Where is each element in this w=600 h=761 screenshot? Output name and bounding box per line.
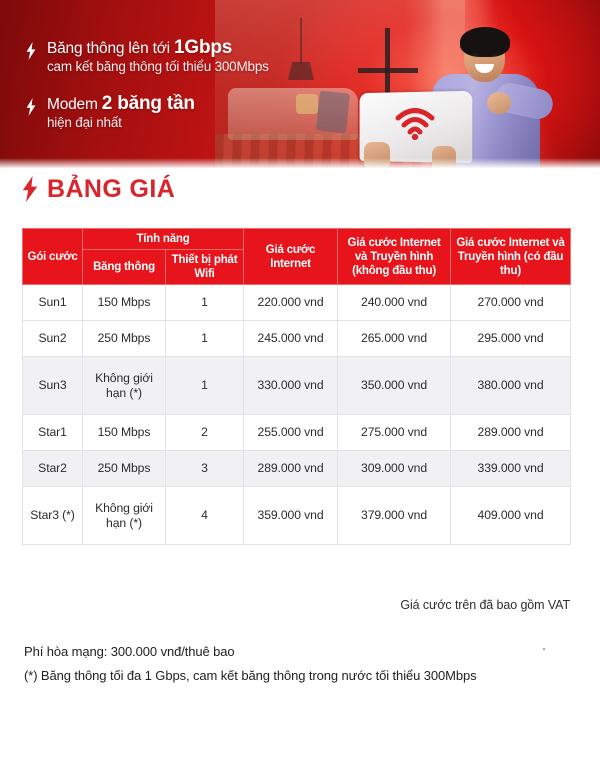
cell-package: Sun1 (23, 285, 83, 321)
cell-internet-price: 220.000 vnd (244, 285, 338, 321)
bullet-1-prefix: Băng thông lên tới (47, 40, 174, 57)
lightning-bolt-icon (26, 42, 36, 60)
cell-wifi-device: 4 (166, 487, 244, 545)
lightning-bolt-icon (26, 98, 36, 116)
cell-package: Star1 (23, 415, 83, 451)
cell-wifi-device: 1 (166, 357, 244, 415)
banner-bullet-item: Băng thông lên tới 1Gbps cam kết băng th… (26, 38, 269, 76)
person-eye (492, 53, 498, 56)
cell-internet-price: 255.000 vnd (244, 415, 338, 451)
cell-internet-tv-with-box: 380.000 vnd (451, 357, 571, 415)
cell-internet-tv-no-box: 350.000 vnd (338, 357, 451, 415)
banner-bottom-fade (0, 158, 600, 170)
col-header-internet-price: Giá cước Internet (244, 229, 338, 285)
cell-internet-tv-with-box: 409.000 vnd (451, 487, 571, 545)
footer-notes: Phí hòa mạng: 300.000 vnđ/thuê bao (*) B… (24, 640, 584, 688)
bullet-1-subtext: cam kết băng thông tối thiểu 300Mbps (47, 58, 269, 76)
person-pointing-hand (487, 92, 511, 114)
banner-bullet-list: Băng thông lên tới 1Gbps cam kết băng th… (26, 38, 269, 150)
scan-artifact-speck (543, 648, 545, 650)
col-header-bandwidth: Băng thông (83, 250, 166, 285)
vat-note: Giá cước trên đã bao gồm VAT (0, 598, 570, 612)
person-eye (472, 53, 478, 56)
table-head: Gói cước Tính năng Giá cước Internet Giá… (23, 229, 571, 285)
pricing-table: Gói cước Tính năng Giá cước Internet Giá… (22, 228, 571, 545)
cell-internet-tv-with-box: 289.000 vnd (451, 415, 571, 451)
bullet-2-highlight: 2 băng tần (102, 93, 195, 114)
floor-lamp-pole-decoration (300, 18, 302, 64)
cell-bandwidth: 150 Mbps (83, 415, 166, 451)
cell-internet-tv-no-box: 275.000 vnd (338, 415, 451, 451)
cell-internet-price: 245.000 vnd (244, 321, 338, 357)
table-row: Star1 150 Mbps 2 255.000 vnd 275.000 vnd… (23, 415, 571, 451)
bullet-2-subtext: hiện đại nhất (47, 114, 195, 132)
window-frame-graphic (358, 68, 418, 73)
banner-bullet-item: Modem 2 băng tần hiện đại nhất (26, 94, 269, 132)
cell-wifi-device: 3 (166, 451, 244, 487)
cell-wifi-device: 2 (166, 415, 244, 451)
cell-package: Sun3 (23, 357, 83, 415)
cell-wifi-device: 1 (166, 285, 244, 321)
cell-package: Star2 (23, 451, 83, 487)
cell-internet-tv-with-box: 295.000 vnd (451, 321, 571, 357)
table-row: Sun2 250 Mbps 1 245.000 vnd 265.000 vnd … (23, 321, 571, 357)
cell-internet-price: 359.000 vnd (244, 487, 338, 545)
cell-package: Star3 (*) (23, 487, 83, 545)
table-body: Sun1 150 Mbps 1 220.000 vnd 240.000 vnd … (23, 285, 571, 545)
col-header-features-group: Tính năng (83, 229, 244, 250)
cell-bandwidth: 250 Mbps (83, 451, 166, 487)
cell-internet-price: 289.000 vnd (244, 451, 338, 487)
table-row: Star2 250 Mbps 3 289.000 vnd 309.000 vnd… (23, 451, 571, 487)
cell-internet-tv-no-box: 379.000 vnd (338, 487, 451, 545)
cell-bandwidth: 250 Mbps (83, 321, 166, 357)
blanket-decoration (316, 91, 350, 134)
floor-lamp-shade-decoration (288, 62, 314, 80)
col-header-internet-tv-no-box: Giá cước Internet và Truyền hình (không … (338, 229, 451, 285)
page-title: BẢNG GIÁ (47, 176, 175, 202)
cell-internet-tv-no-box: 309.000 vnd (338, 451, 451, 487)
bullet-1-headline: Băng thông lên tới 1Gbps (47, 38, 269, 58)
table-row: Sun3 Không giới hạn (*) 1 330.000 vnd 35… (23, 357, 571, 415)
table-header-row-1: Gói cước Tính năng Giá cước Internet Giá… (23, 229, 571, 250)
cell-bandwidth: Không giới hạn (*) (83, 487, 166, 545)
cell-bandwidth: Không giới hạn (*) (83, 357, 166, 415)
section-heading: BẢNG GIÁ (22, 176, 175, 202)
cell-wifi-device: 1 (166, 321, 244, 357)
cell-internet-price: 330.000 vnd (244, 357, 338, 415)
bullet-1-highlight: 1Gbps (174, 37, 232, 58)
cell-internet-tv-no-box: 265.000 vnd (338, 321, 451, 357)
bullet-2-prefix: Modem (47, 96, 102, 113)
col-header-wifi-device: Thiết bị phát Wifi (166, 250, 244, 285)
cell-internet-tv-with-box: 270.000 vnd (451, 285, 571, 321)
cell-bandwidth: 150 Mbps (83, 285, 166, 321)
person-hair (460, 27, 510, 57)
col-header-package: Gói cước (23, 229, 83, 285)
cell-package: Sun2 (23, 321, 83, 357)
bullet-2-headline: Modem 2 băng tần (47, 94, 195, 114)
asterisk-note: (*) Băng thông tối đa 1 Gbps, cam kết bă… (24, 664, 584, 688)
installation-fee-note: Phí hòa mạng: 300.000 vnđ/thuê bao (24, 640, 584, 664)
col-header-internet-tv-with-box: Giá cước Internet và Truyền hình (có đầu… (451, 229, 571, 285)
cell-internet-tv-no-box: 240.000 vnd (338, 285, 451, 321)
table-row: Sun1 150 Mbps 1 220.000 vnd 240.000 vnd … (23, 285, 571, 321)
cushion-decoration (296, 94, 318, 114)
table-row: Star3 (*) Không giới hạn (*) 4 359.000 v… (23, 487, 571, 545)
lightning-bolt-icon (22, 176, 38, 202)
cell-internet-tv-with-box: 339.000 vnd (451, 451, 571, 487)
promo-banner: Băng thông lên tới 1Gbps cam kết băng th… (0, 0, 600, 170)
wifi-icon (395, 108, 435, 140)
